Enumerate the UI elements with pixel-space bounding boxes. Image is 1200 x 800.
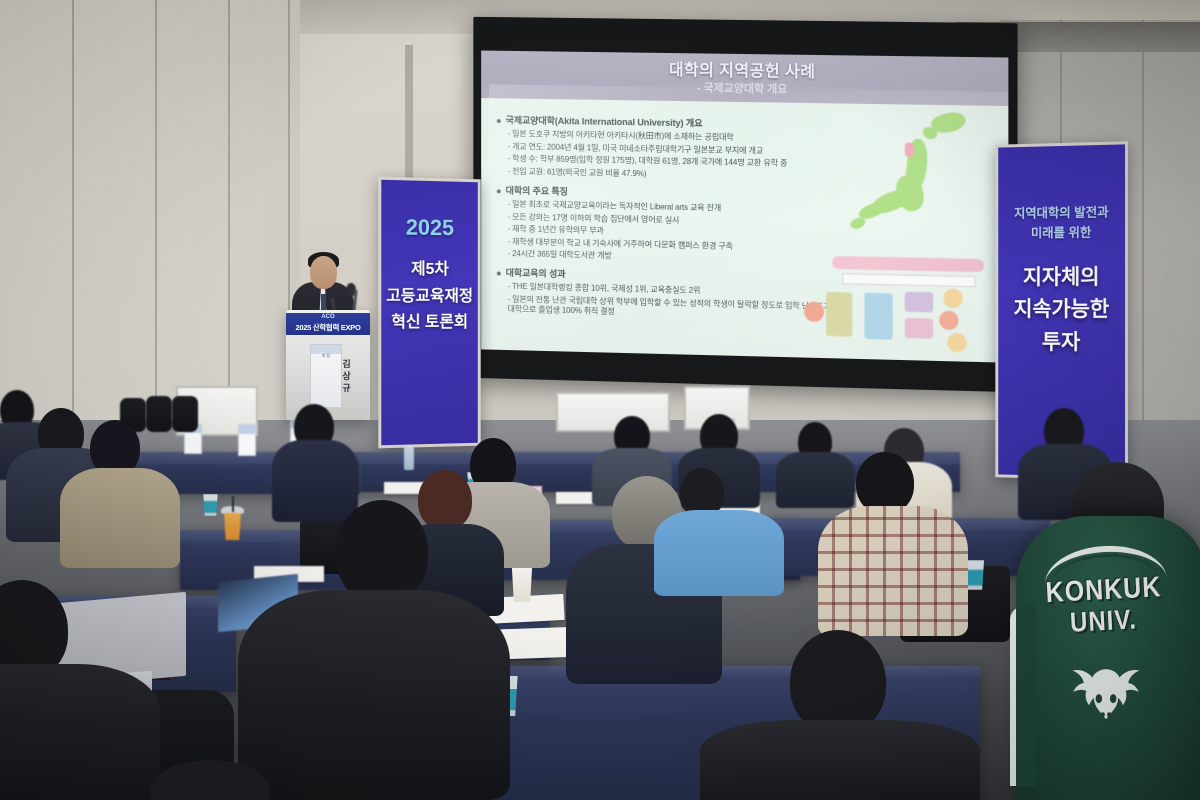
podium: ACO 2025 산학협력 EXPO 좌 장 김상규 [286, 310, 370, 420]
iced-coffee-cup [222, 506, 243, 540]
podium-banner-text: 2025 산학협력 EXPO [286, 322, 370, 333]
banner-left-line-3: 혁신 토론회 [381, 312, 478, 335]
program-flow-diagram [822, 256, 1004, 357]
nameplate-name: 김상규 [321, 356, 351, 398]
slide-body: 국제교양대학(Akita International University) 개… [497, 106, 824, 322]
bull-mascot-icon [1060, 652, 1152, 738]
banner-left-year: 2025 [381, 214, 478, 242]
slide-section-heading: 국제교양대학(Akita International University) 개… [497, 112, 824, 131]
speaker-head [310, 256, 337, 289]
paper-coffee-cup [510, 568, 534, 602]
slide-bullet: 전임 교원: 61명(외국인 교원 비율 47.9%) [508, 167, 825, 183]
banner-right-top-2: 미래를 위한 [998, 223, 1125, 243]
left-wall-panels [0, 0, 300, 430]
conference-photo-scene: 대학의 지역공헌 사례 - 국제교양대학 개요 국제교양대학(Akita Int… [0, 0, 1200, 800]
banner-left-forum: 2025 제5차 고등교육재정 혁신 토론회 [378, 177, 480, 449]
teal-banded-cup [202, 494, 219, 516]
banner-left-line-2: 고등교육재정 [381, 285, 478, 308]
japan-map-graphic [844, 108, 996, 252]
stacked-chair [172, 396, 198, 432]
konkuk-varsity-jacket: KONKUK UNIV. [1016, 516, 1200, 800]
water-bottle [404, 446, 414, 470]
banner-left-line-1: 제5차 [381, 258, 478, 282]
expo-logo-mark: ACO [286, 314, 370, 320]
slide-surface: 대학의 지역공헌 사례 - 국제교양대학 개요 국제교양대학(Akita Int… [481, 51, 1008, 363]
banner-right-big-2: 지속가능한 [998, 296, 1125, 324]
banner-right-big-1: 지자체의 [998, 264, 1125, 293]
banner-right-top-1: 지역대학의 발전과 [998, 203, 1125, 223]
projection-screen: 대학의 지역공헌 사례 - 국제교양대학 개요 국제교양대학(Akita Int… [473, 17, 1017, 393]
stacked-chair [146, 396, 172, 432]
table-name-card [238, 424, 256, 456]
front-equipment-panel [556, 392, 670, 432]
speaker-nameplate: 좌 장 김상규 [310, 344, 342, 408]
podium-banner: ACO 2025 산학협력 EXPO [286, 313, 370, 335]
banner-right-big-3: 투자 [998, 328, 1125, 357]
